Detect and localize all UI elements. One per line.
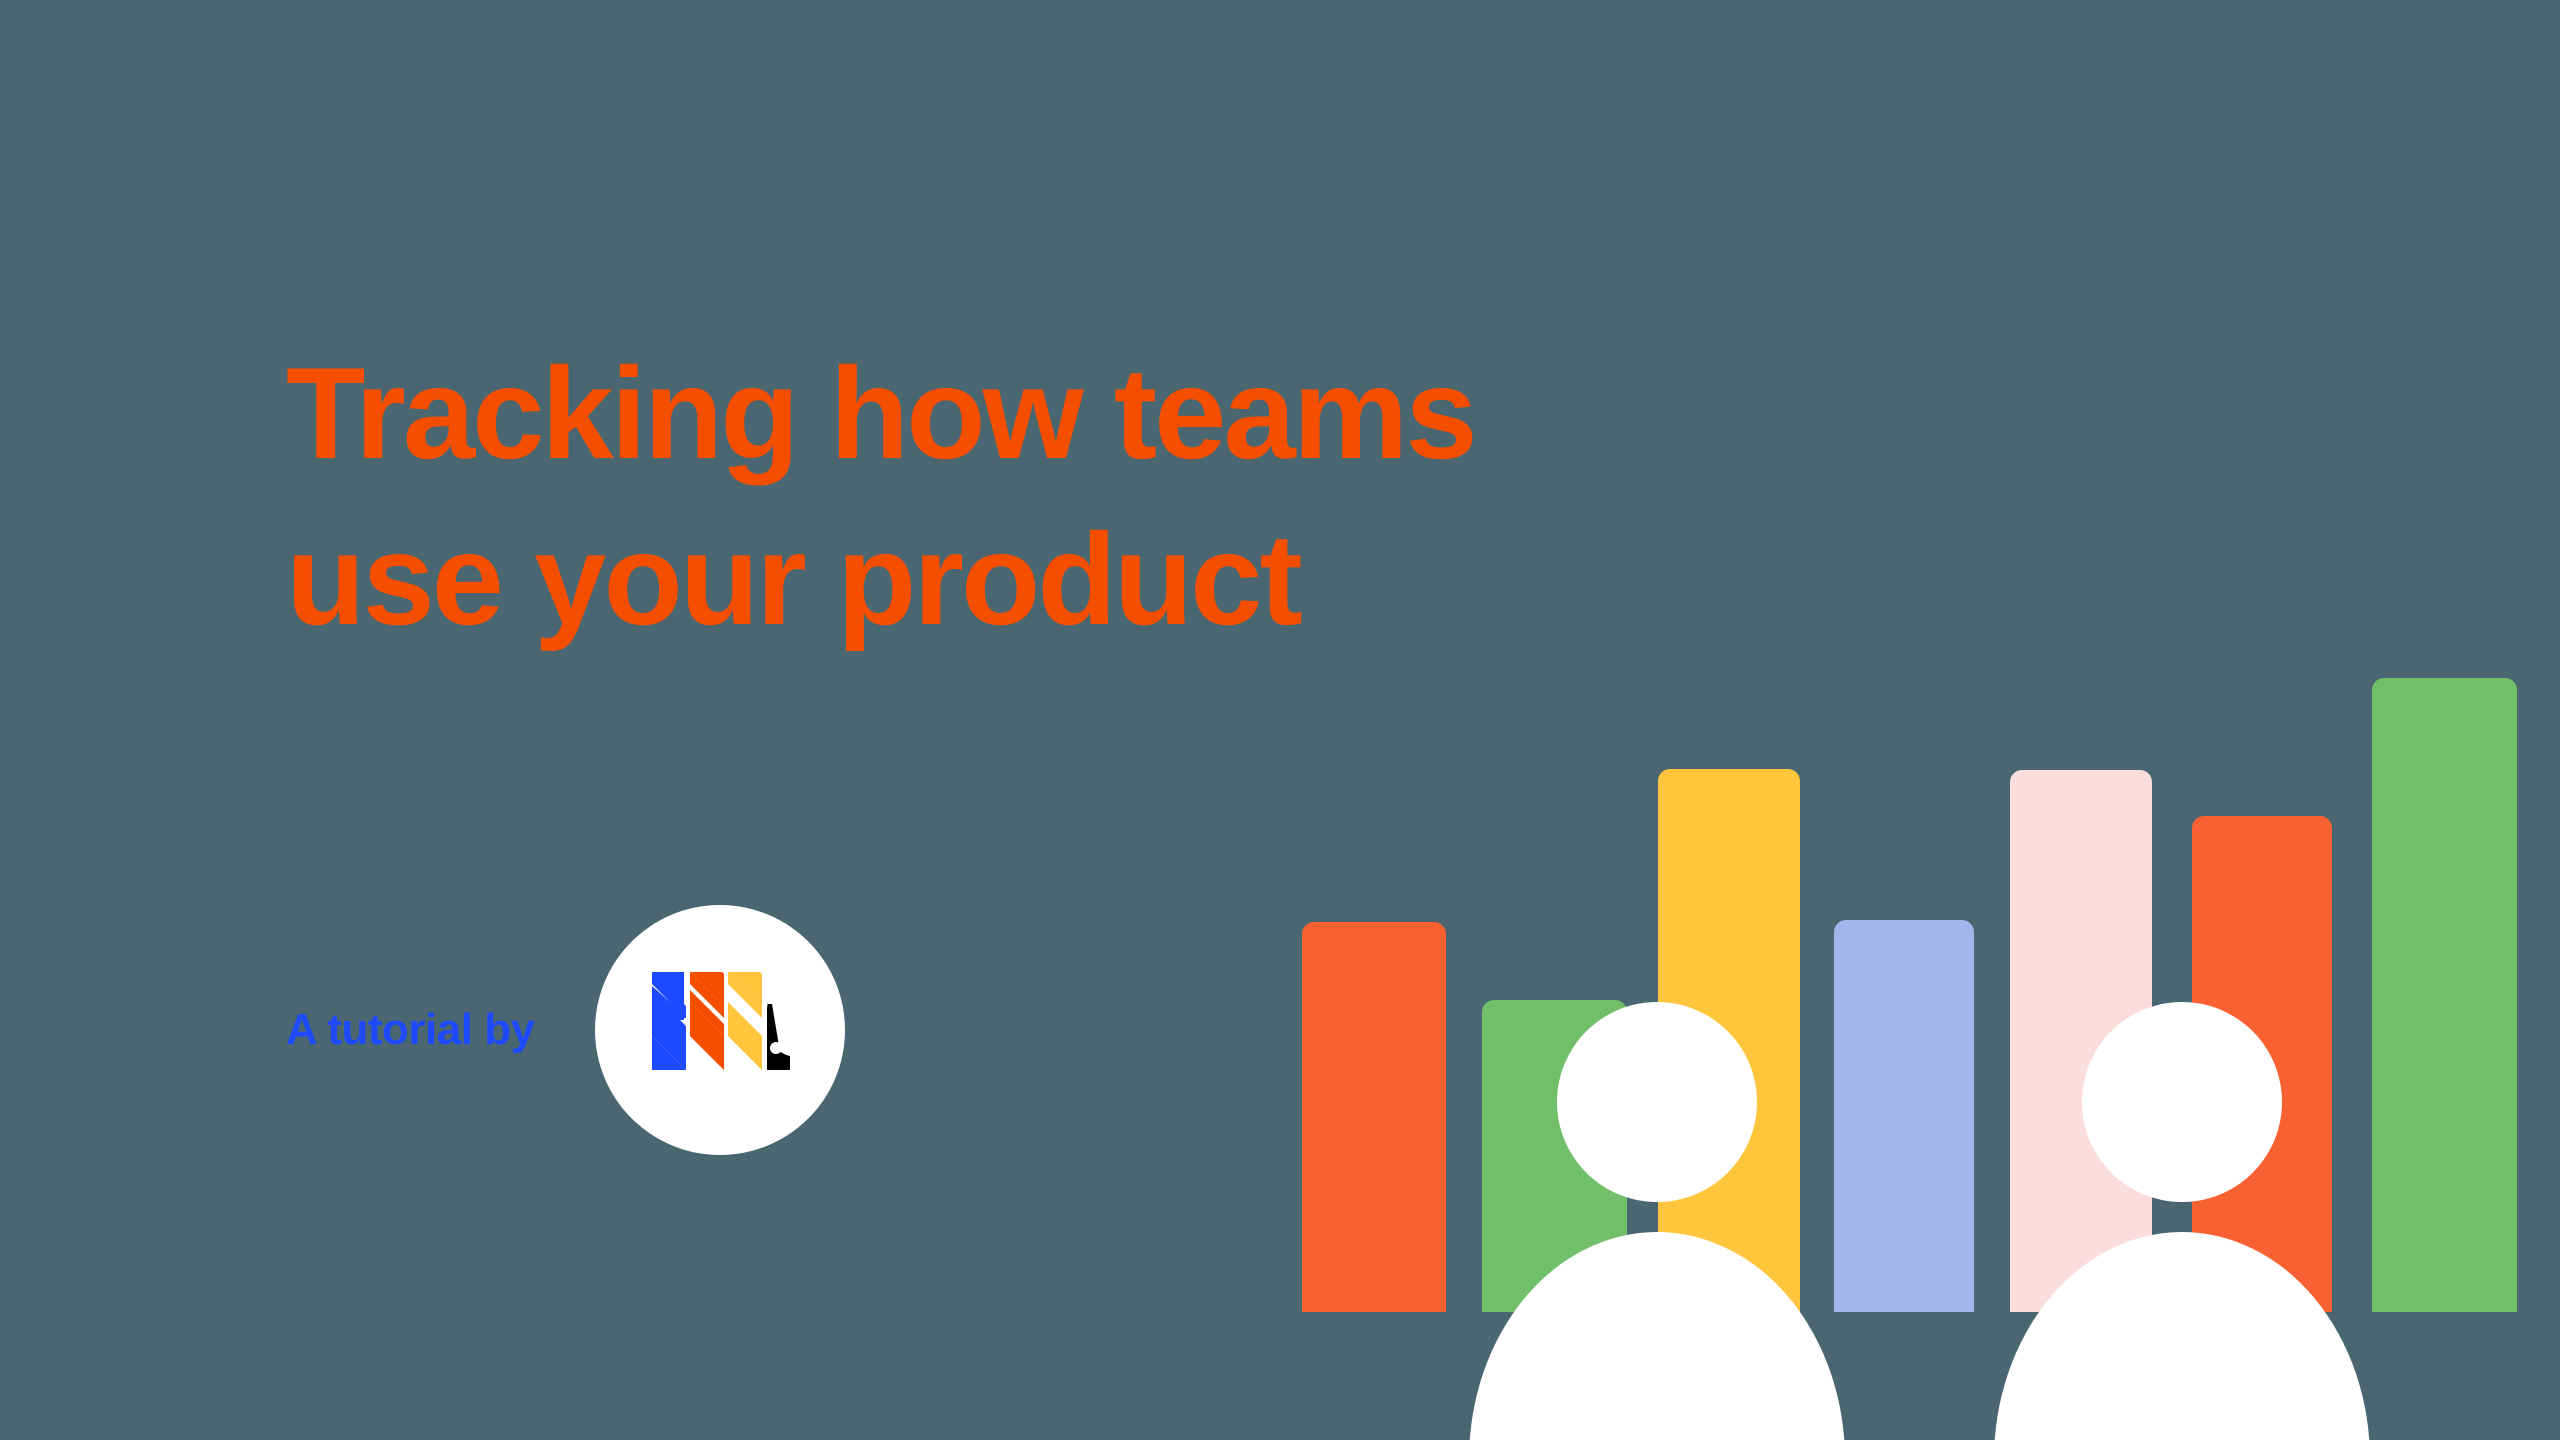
- byline-row: A tutorial by: [286, 930, 845, 1130]
- byline-label: A tutorial by: [286, 1005, 535, 1055]
- posthog-logo-icon: [595, 905, 845, 1155]
- bar-chart-illustration: [1280, 0, 2560, 1440]
- avatar-body: [1994, 1232, 2370, 1440]
- avatar-head: [2082, 1002, 2282, 1202]
- slide-canvas: Tracking how teams use your product A tu…: [0, 0, 2560, 1440]
- person-avatar-2: [1280, 0, 2560, 1440]
